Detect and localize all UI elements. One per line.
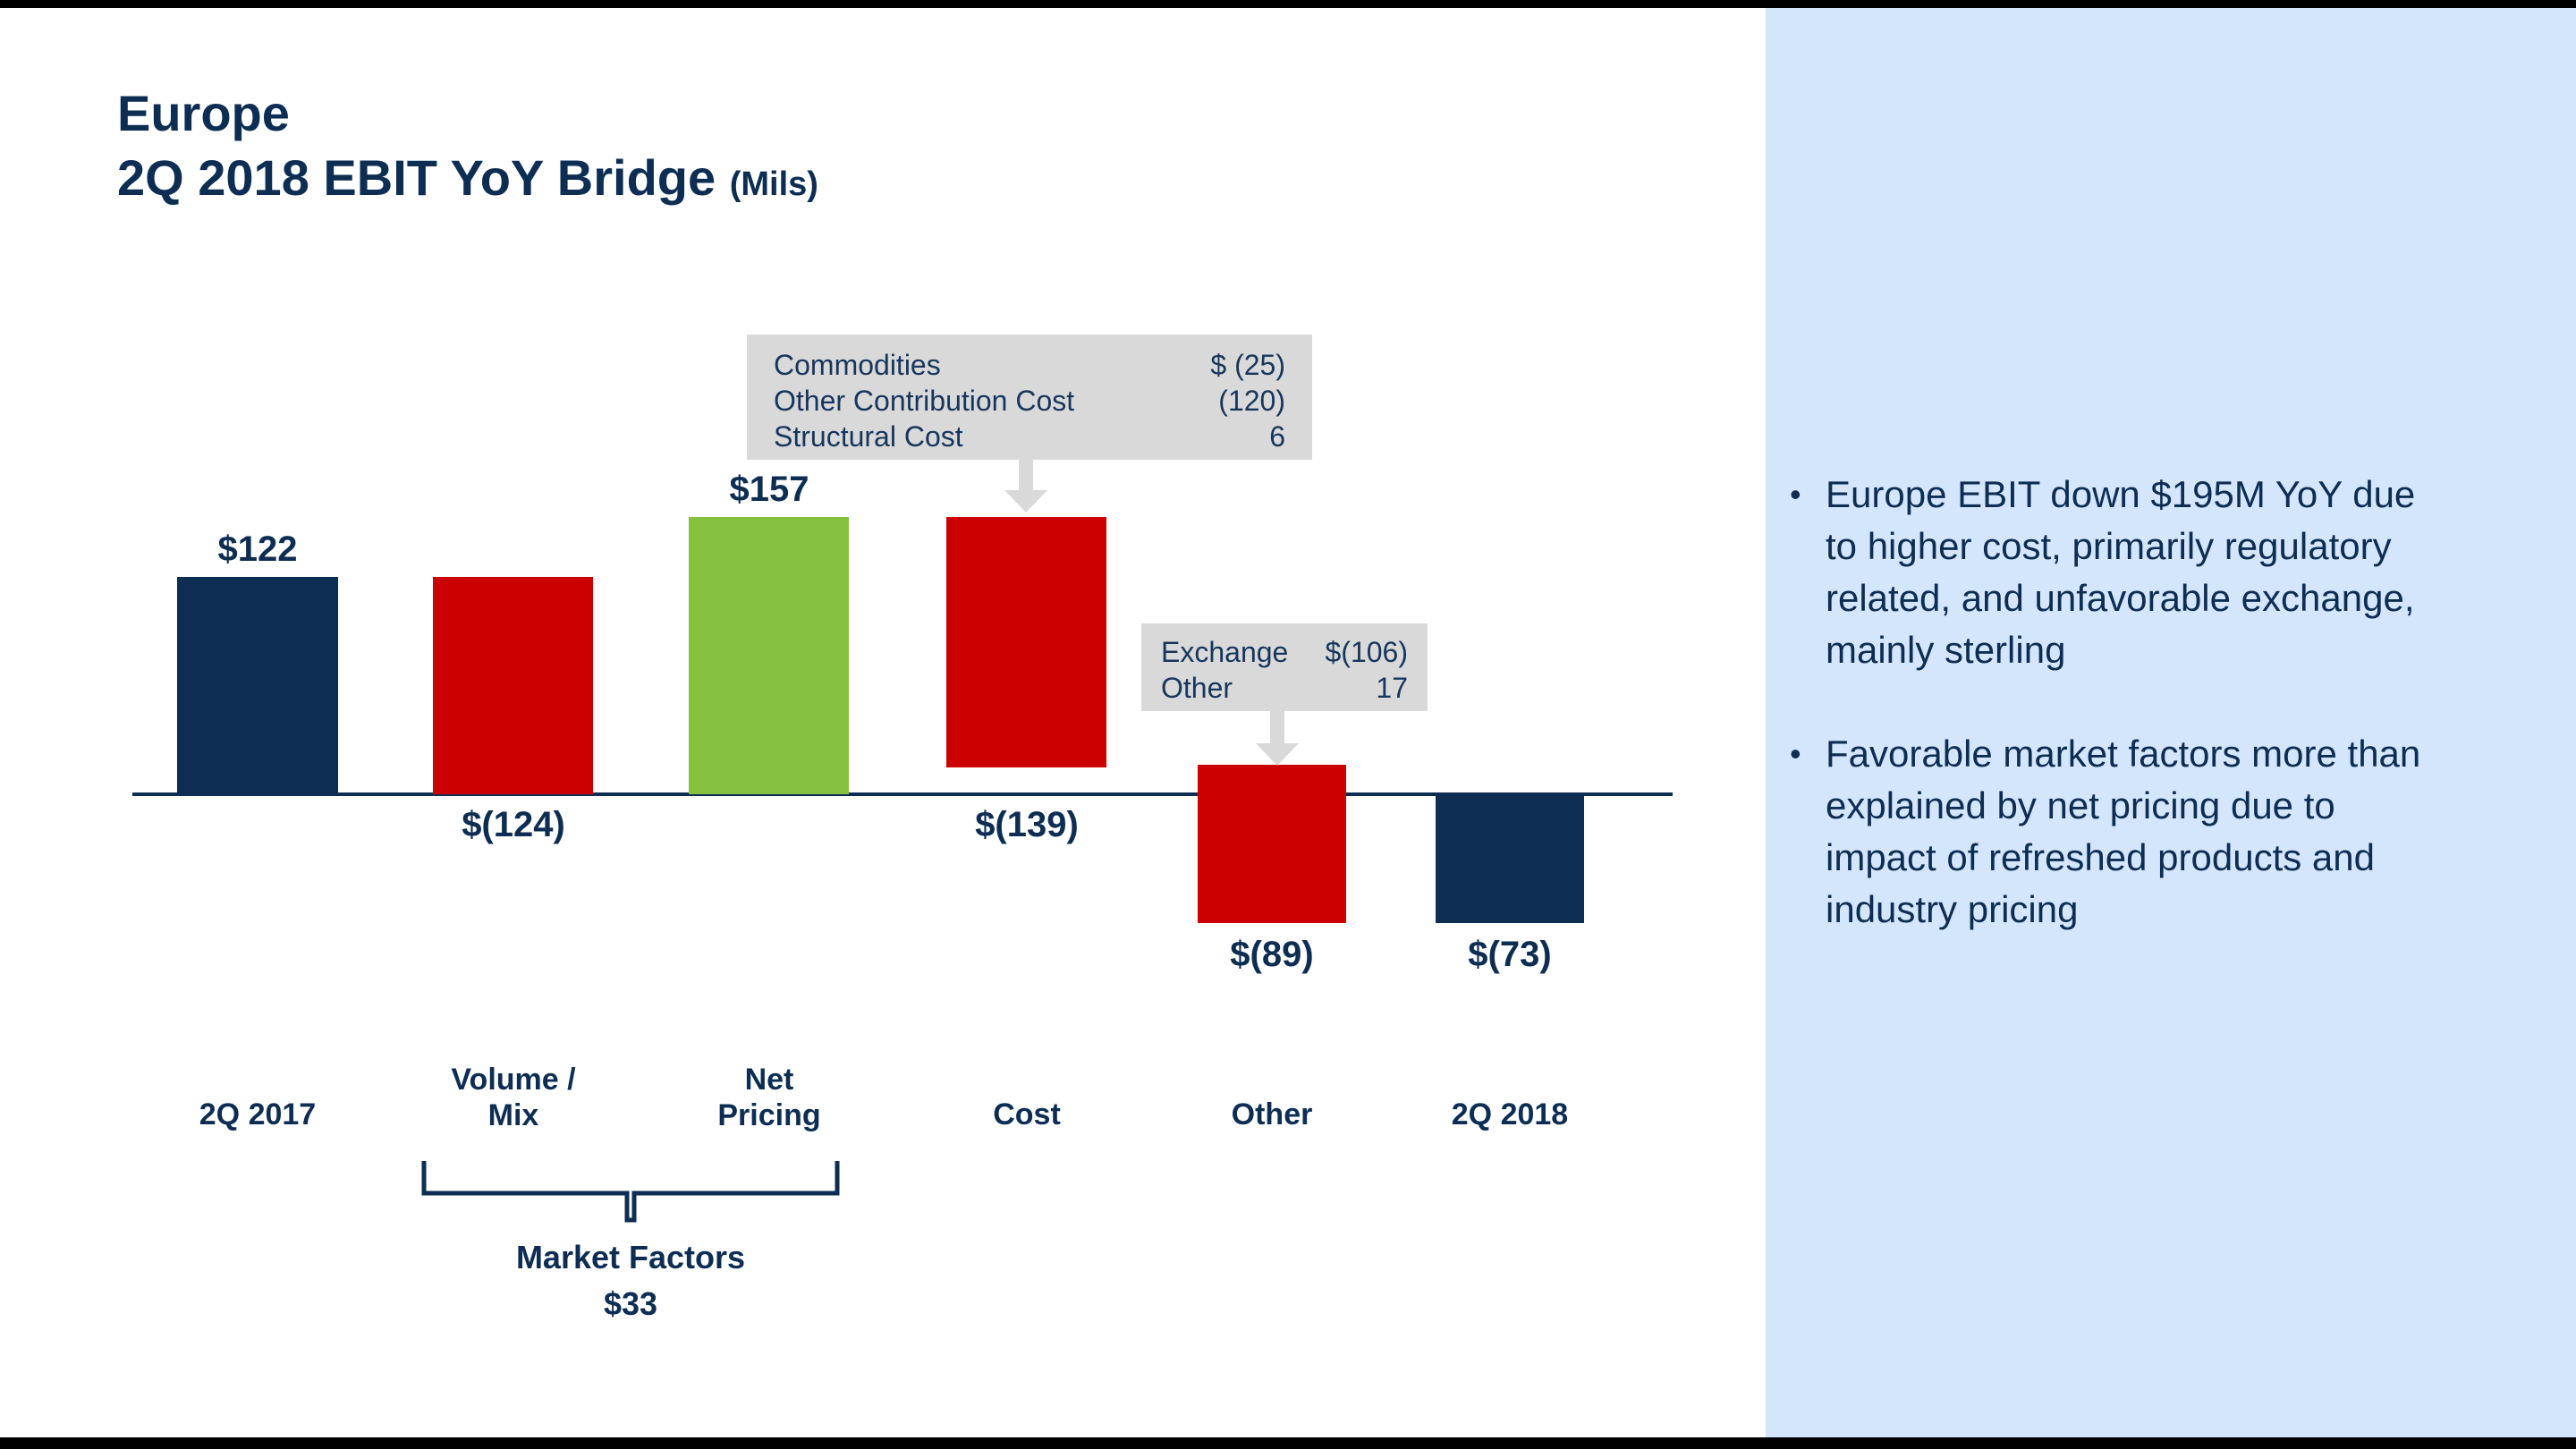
callout-row: Exchange $(106) <box>1161 634 1408 670</box>
callout-item-value: $ (25) <box>1210 347 1285 383</box>
callout-item-value: 17 <box>1376 670 1408 706</box>
category-line: 2Q 2017 <box>132 1097 383 1132</box>
callout-item-value: $(106) <box>1326 634 1409 670</box>
category-line: Net <box>644 1062 894 1097</box>
category-label-cost: Cost <box>902 1097 1152 1132</box>
slide-canvas: Europe 2Q 2018 EBIT YoY Bridge (Mils) $1… <box>0 0 2576 1449</box>
callout-item-name: Exchange <box>1161 634 1288 670</box>
callout-item-value: 6 <box>1269 419 1285 454</box>
callout-row: Structural Cost 6 <box>774 419 1285 454</box>
list-item: • Favorable market factors more than exp… <box>1784 728 2518 936</box>
category-line: Mix <box>388 1097 639 1133</box>
bar-value-net-pricing: $157 <box>644 470 894 510</box>
bar-volume-mix[interactable] <box>433 577 593 794</box>
callout-item-value: (120) <box>1218 383 1285 419</box>
market-factors-value: $33 <box>501 1281 760 1327</box>
commentary-bullet-list: • Europe EBIT down $195M YoY due to high… <box>1784 469 2518 987</box>
category-line: Cost <box>902 1097 1152 1132</box>
category-label-other: Other <box>1147 1097 1397 1132</box>
category-line: Volume / <box>388 1062 639 1097</box>
bar-2q-2017[interactable] <box>177 577 338 794</box>
bar-value-2q-2017: $122 <box>132 530 383 570</box>
bar-cost[interactable] <box>946 517 1106 767</box>
callout-item-name: Commodities <box>774 347 941 383</box>
market-factors-title: Market Factors <box>501 1234 760 1281</box>
market-factors-label: Market Factors $33 <box>501 1234 760 1327</box>
callout-other-breakdown: Exchange $(106) Other 17 <box>1141 623 1428 711</box>
category-line: 2Q 2018 <box>1385 1097 1635 1132</box>
callout-row: Other Contribution Cost (120) <box>774 383 1285 419</box>
bar-2q-2018[interactable] <box>1436 794 1584 923</box>
bar-value-cost: $(139) <box>902 805 1152 845</box>
callout-item-name: Structural Cost <box>774 419 963 454</box>
bullet-marker-icon: • <box>1784 728 1826 780</box>
bullet-marker-icon: • <box>1784 469 1826 521</box>
callout-row: Other 17 <box>1161 670 1408 706</box>
category-label-2q-2018: 2Q 2018 <box>1385 1097 1635 1132</box>
category-line: Pricing <box>644 1097 894 1133</box>
callout-row: Commodities $ (25) <box>774 347 1285 383</box>
bullet-text: Favorable market factors more than expla… <box>1826 728 2452 936</box>
bullet-text: Europe EBIT down $195M YoY due to higher… <box>1826 469 2452 676</box>
callout-other-arrow-icon <box>1252 711 1302 767</box>
callout-cost-arrow-icon <box>1001 458 1051 513</box>
bar-other[interactable] <box>1198 765 1346 923</box>
category-label-volume-mix: Volume / Mix <box>388 1062 639 1133</box>
category-label-net-pricing: Net Pricing <box>644 1062 894 1133</box>
ebit-bridge-chart: $122 $(124) $157 $(139) $(89) $(73) 2Q 2… <box>0 0 1766 1449</box>
category-label-2q-2017: 2Q 2017 <box>132 1097 383 1132</box>
bar-net-pricing[interactable] <box>689 517 849 794</box>
bar-value-2q-2018: $(73) <box>1385 935 1635 975</box>
category-line: Other <box>1147 1097 1397 1132</box>
callout-cost-breakdown: Commodities $ (25) Other Contribution Co… <box>747 335 1312 460</box>
bar-value-volume-mix: $(124) <box>388 805 639 845</box>
callout-item-name: Other <box>1161 670 1233 706</box>
bar-value-other: $(89) <box>1147 935 1397 975</box>
list-item: • Europe EBIT down $195M YoY due to high… <box>1784 469 2518 676</box>
callout-item-name: Other Contribution Cost <box>774 383 1074 419</box>
